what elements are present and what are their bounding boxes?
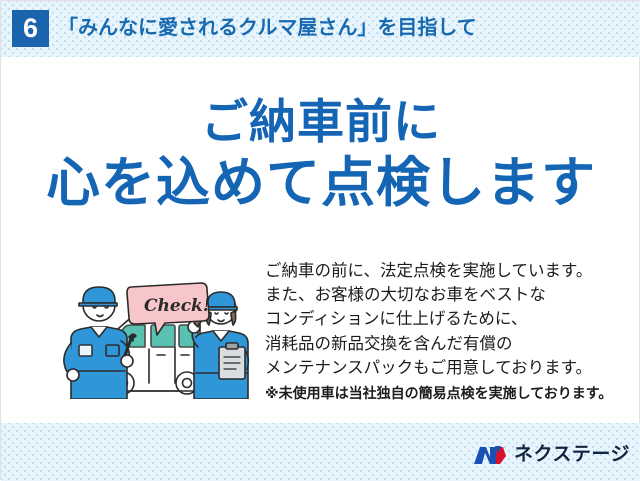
mechanics-illustration: Check! <box>61 263 256 399</box>
nextage-n-mark-icon <box>473 443 507 467</box>
nextage-logo: ネクステージ <box>473 441 630 469</box>
body-line: コンディションに仕上げるために、 <box>265 307 631 331</box>
mechanic-left-figure <box>64 287 136 399</box>
advertisement-page: 6 「みんなに愛されるクルマ屋さん」を目指して ご納車前に 心を込めて点検します <box>0 0 640 480</box>
check-bubble-text: Check! <box>144 296 210 316</box>
headline: ご納車前に 心を込めて点検します <box>1 93 640 215</box>
body-copy: ご納車の前に、法定点検を実施しています。 また、お客様の大切なお車をベストな コ… <box>265 259 631 404</box>
body-line: 消耗品の新品交換を含んだ有償の <box>265 332 631 356</box>
section-number-badge: 6 <box>12 10 49 47</box>
nextage-logo-text: ネクステージ <box>514 443 630 467</box>
body-note: ※未使用車は当社独自の簡易点検を実施しております。 <box>265 382 631 404</box>
body-line: メンテナンスパックもご用意しております。 <box>265 356 631 380</box>
headline-line-2: 心を込めて点検します <box>1 151 640 215</box>
body-line: ご納車の前に、法定点検を実施しています。 <box>265 259 631 283</box>
body-line: また、お客様の大切なお車をベストな <box>265 283 631 307</box>
headline-line-1: ご納車前に <box>1 93 640 151</box>
header-title: 「みんなに愛されるクルマ屋さん」を目指して <box>58 15 477 42</box>
